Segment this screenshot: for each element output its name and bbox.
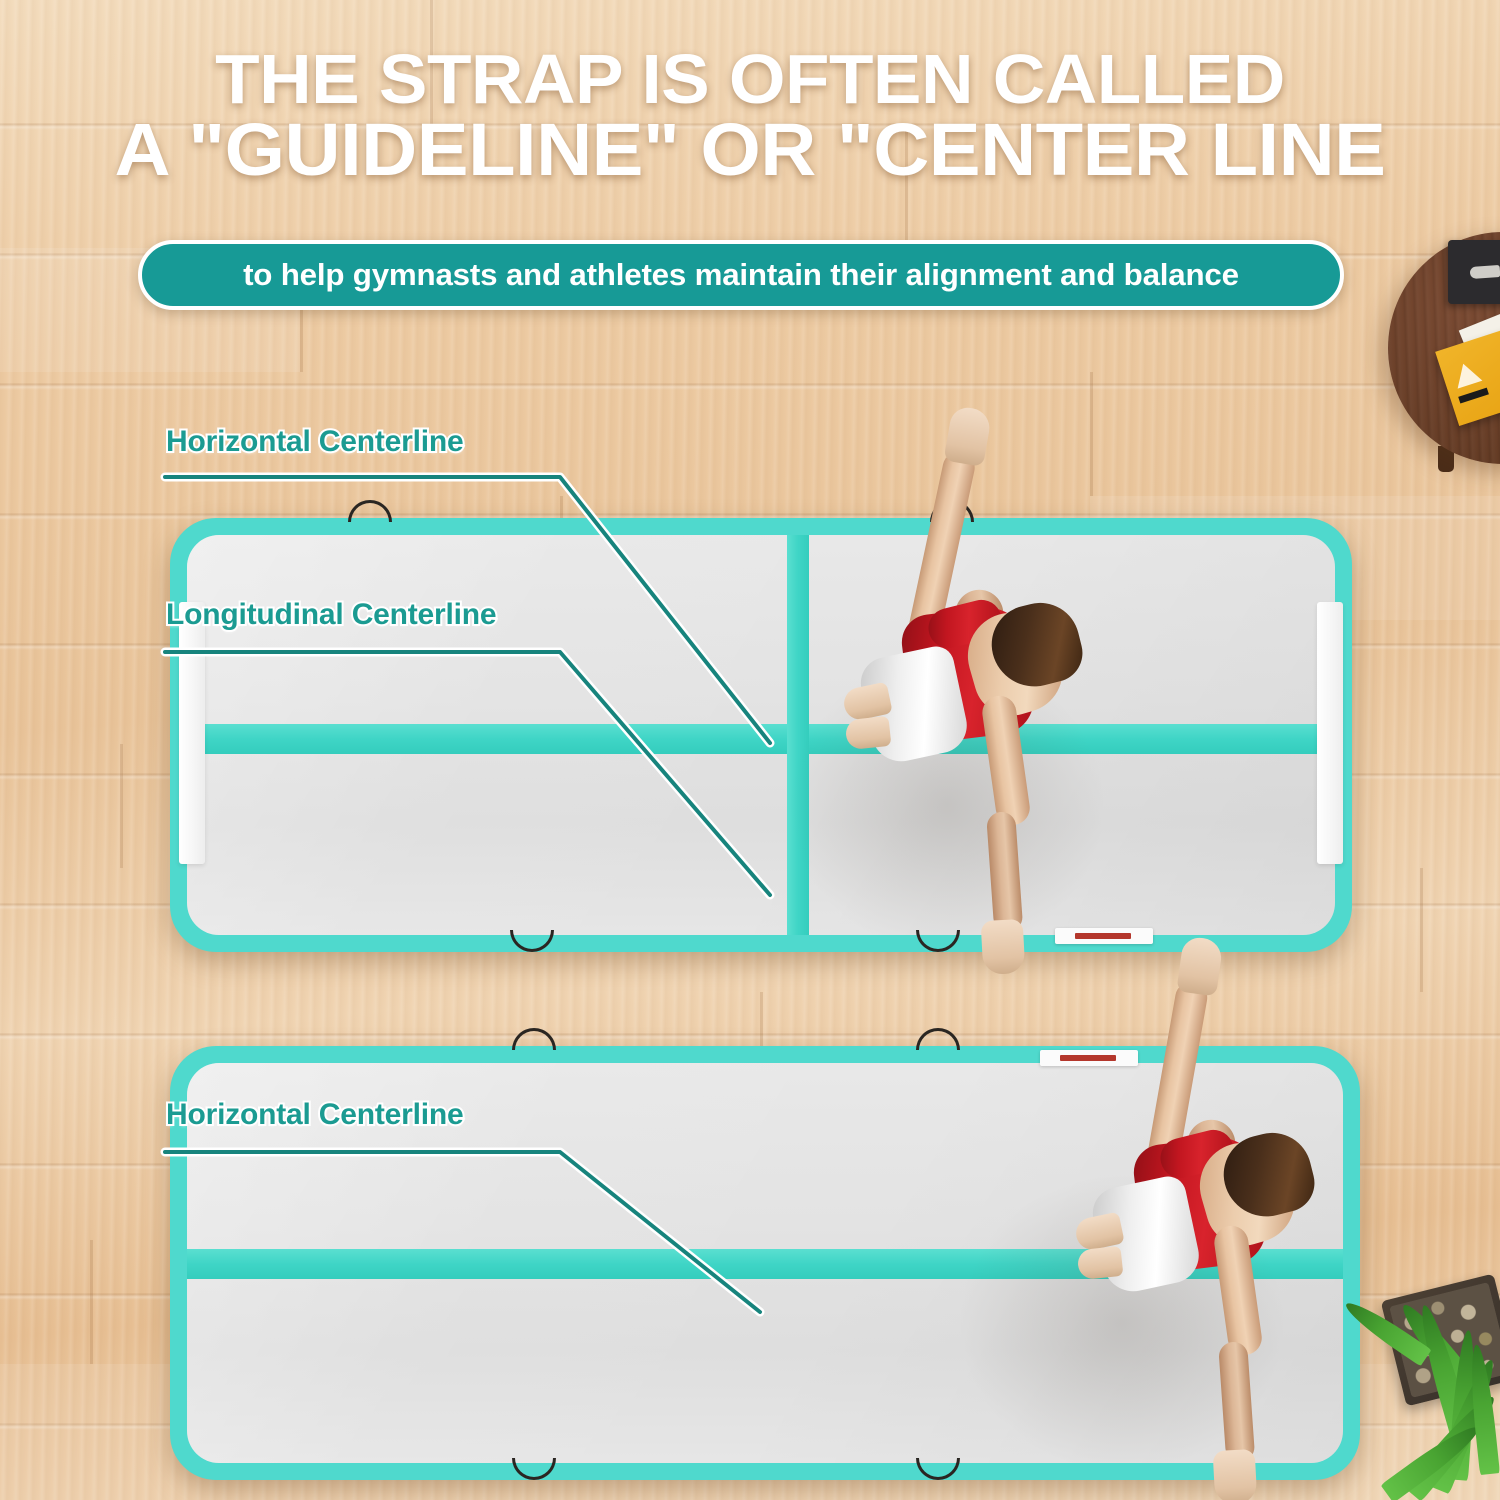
- book-triangle-graphic: [1451, 360, 1483, 389]
- floor-plank-joint: [90, 1240, 93, 1364]
- gymnast-foot-lower: [845, 716, 892, 750]
- subtitle-text: to help gymnasts and athletes maintain t…: [243, 257, 1239, 293]
- top-mat-left-strap: [179, 602, 205, 864]
- gymnast-hand-raised: [943, 405, 992, 467]
- top-mat-surface: [187, 535, 1335, 935]
- gymnast-hand-lower: [981, 919, 1026, 975]
- headline-line-2: A "GUIDELINE" OR "CENTER LINE: [0, 114, 1500, 186]
- callout-top-mat-longitudinal: Longitudinal Centerline: [166, 598, 496, 632]
- gymnast-foot-lower: [1077, 1246, 1124, 1280]
- remote-button: [1470, 265, 1500, 279]
- gymnast-hand-lower: [1213, 1449, 1258, 1500]
- headline-line-1: THE STRAP IS OFTEN CALLED: [0, 46, 1500, 114]
- top-mat-horizontal-centerline: [187, 724, 1335, 754]
- floor-plank-joint: [120, 744, 123, 868]
- floor-plank-joint: [1420, 868, 1423, 992]
- gymnast-forearm-lower: [1218, 1341, 1255, 1463]
- gymnast-handstand-bottom: [1060, 930, 1320, 1500]
- gymnast-forearm-lower: [986, 811, 1023, 933]
- top-mat-right-strap: [1317, 602, 1343, 864]
- subtitle-banner: to help gymnasts and athletes maintain t…: [138, 240, 1344, 310]
- callout-top-mat-horizontal: Horizontal Centerline: [166, 425, 464, 459]
- top-mat: [170, 518, 1352, 952]
- headline: THE STRAP IS OFTEN CALLED A "GUIDELINE" …: [0, 46, 1500, 186]
- gymnast-handstand-top: [840, 400, 1100, 980]
- gymnast-hand-raised: [1176, 935, 1223, 996]
- callout-bottom-mat-horizontal: Horizontal Centerline: [166, 1098, 464, 1132]
- book-bar-graphic: [1458, 388, 1489, 404]
